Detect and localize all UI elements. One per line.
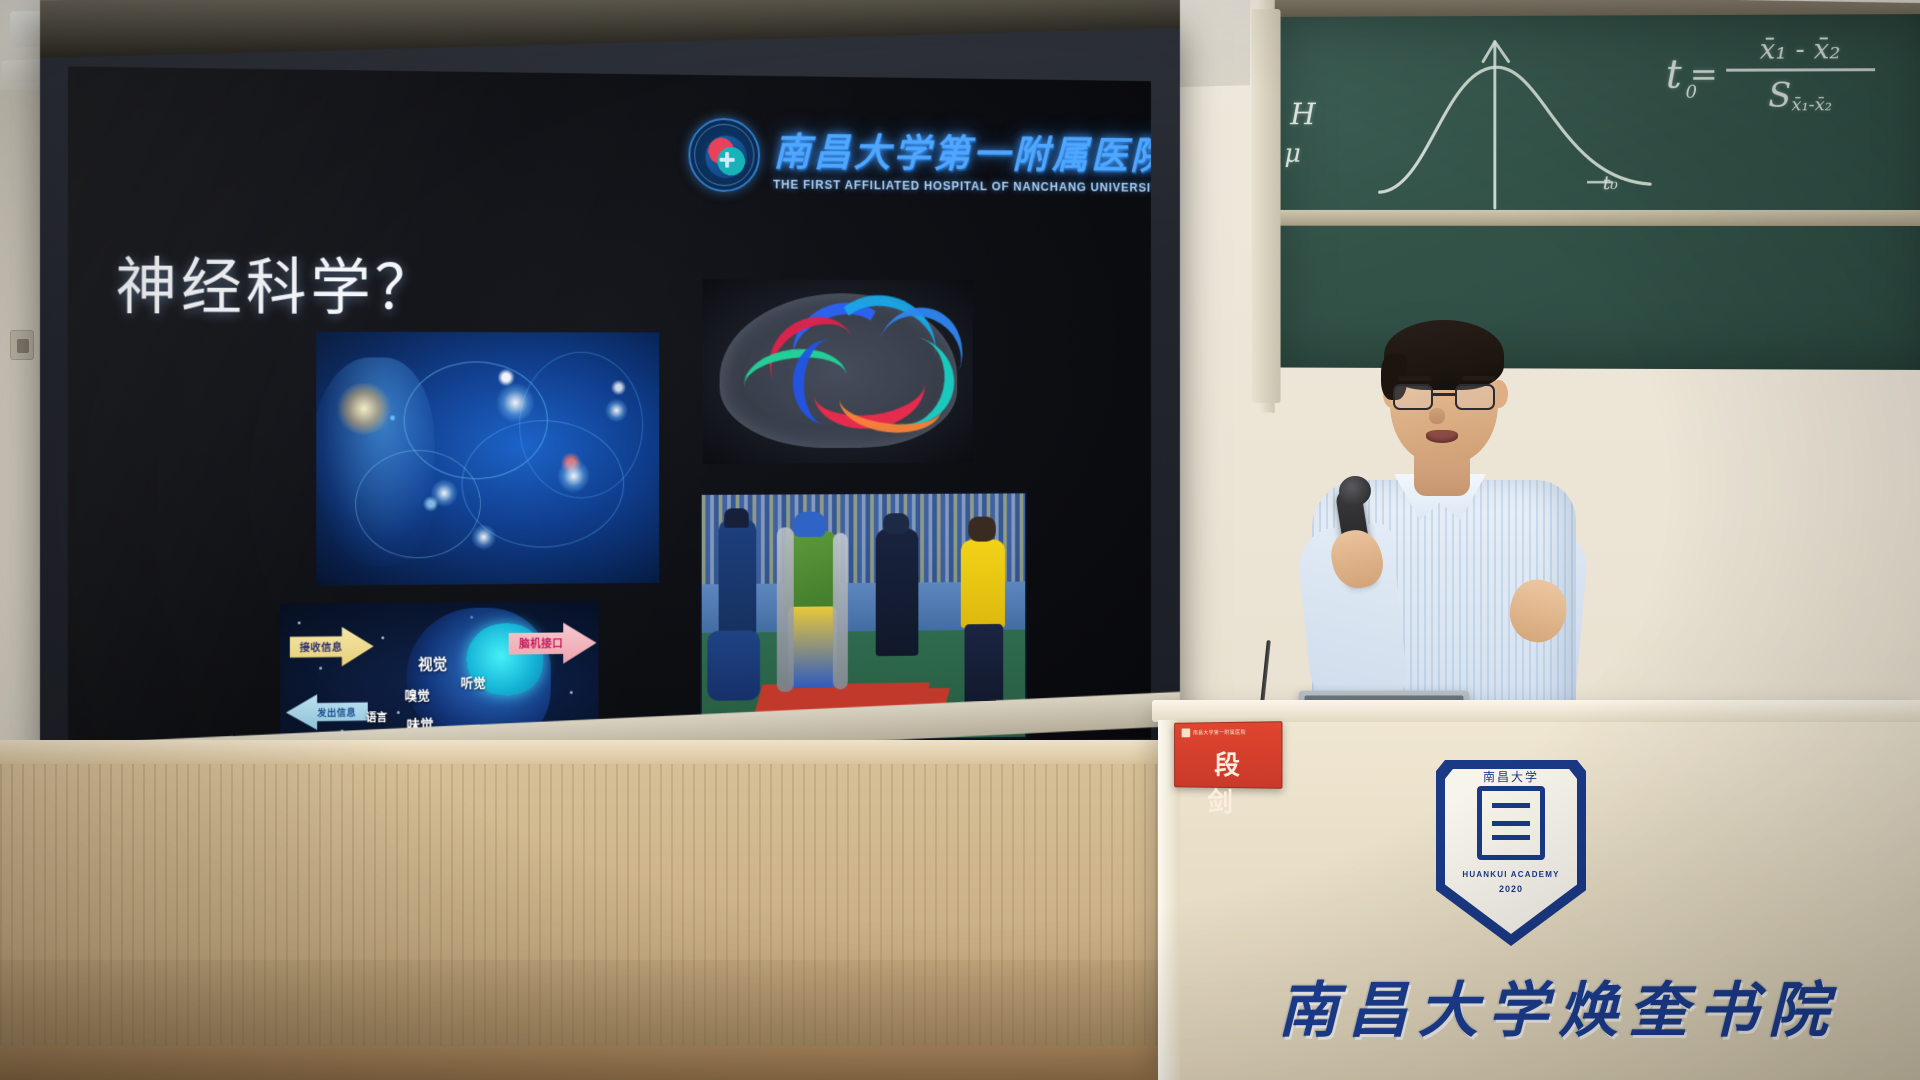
- speaker-eyebrow: [1398, 376, 1432, 381]
- chalk-formula-numerator: x̄₁ - x̄₂: [1752, 32, 1849, 65]
- chalk-curve-axis-label: t₀: [1603, 172, 1618, 194]
- nameplate-speaker-name: 段 剑: [1175, 745, 1281, 821]
- speaker-nameplate: 南昌大学第一附属医院 段 剑: [1174, 721, 1282, 789]
- chalkboard-slider-track[interactable]: [1252, 9, 1281, 403]
- slide-header: 南昌大学第一附属医院 THE FIRST AFFILIATED HOSPITAL…: [688, 118, 1151, 196]
- academy-crest: 南昌大学 HUANKUI ACADEMY 2020: [1436, 760, 1586, 946]
- sense-label-smell: 嗅觉: [405, 685, 430, 704]
- hospital-name-cn: 南昌大学第一附属医院: [773, 120, 1151, 180]
- lectern-top: [1152, 700, 1920, 722]
- medical-cross-icon: [720, 152, 735, 168]
- slide-title: 神经科学？: [116, 236, 439, 327]
- projection-board: 南昌大学第一附属医院 THE FIRST AFFILIATED HOSPITAL…: [40, 0, 1180, 775]
- floor: [0, 1046, 1175, 1080]
- sense-label-language: 语言: [366, 709, 387, 725]
- steward-yellow: [961, 540, 1005, 629]
- wood-paneling-cap: [0, 740, 1175, 764]
- assistant-person: [883, 513, 909, 534]
- arrow-send-info: 发出信息: [286, 694, 368, 731]
- assistant-person: [876, 529, 919, 657]
- sense-label-hearing: 听觉: [461, 673, 486, 692]
- chalkboard-middle-rail: [1275, 210, 1920, 226]
- presentation-slide: 南昌大学第一附属医院 THE FIRST AFFILIATED HOSPITAL…: [68, 66, 1151, 755]
- crest-university-name: 南昌大学: [1436, 768, 1586, 785]
- pilot-helmet: [794, 512, 826, 537]
- crest-glyph-icon: [1477, 786, 1545, 860]
- crest-academy-name-en: HUANKUI ACADEMY: [1436, 870, 1586, 879]
- chalk-formula-denominator-subscript: x̄₁-x̄₂: [1791, 94, 1832, 115]
- exoskeleton-frame: [833, 533, 848, 690]
- crest-year: 2020: [1436, 884, 1586, 894]
- steward-legs: [965, 624, 1004, 711]
- speaker-mouth: [1426, 430, 1458, 443]
- chalk-fraction-bar: [1726, 68, 1875, 71]
- chalk-formula-denominator: S: [1768, 75, 1791, 115]
- lecture-hall-scene: 南昌大学第一附属医院 THE FIRST AFFILIATED HOSPITAL…: [0, 0, 1920, 1080]
- chalk-note-h: H: [1290, 98, 1315, 133]
- staff-person: [724, 508, 748, 528]
- nameplate-org-text: 南昌大学第一附属医院: [1193, 729, 1246, 737]
- speaker-nose: [1429, 408, 1445, 424]
- sense-label-vision: 视觉: [418, 653, 447, 674]
- chalk-t-test-formula: t 0 = x̄₁ - x̄₂ S x̄₁-x̄₂: [1666, 32, 1875, 115]
- exoskeleton-frame: [777, 527, 794, 692]
- neuron-network-image: [316, 332, 659, 586]
- hospital-name-en: THE FIRST AFFILIATED HOSPITAL OF NANCHAN…: [773, 177, 1151, 194]
- speaker-eyebrow: [1462, 376, 1496, 381]
- board-top-rail: [40, 0, 1180, 58]
- crouching-staff: [707, 630, 760, 701]
- staff-person: [719, 520, 757, 635]
- nameplate-org-logo: 南昌大学第一附属医院: [1182, 728, 1246, 738]
- wall-socket[interactable]: [10, 330, 34, 360]
- chalk-note-mu: μ: [1284, 139, 1300, 169]
- exoskeleton-legs: [788, 606, 837, 688]
- dti-tractography-image: [703, 279, 973, 464]
- glasses-icon: [1393, 384, 1497, 410]
- chalk-formula-t: t: [1666, 51, 1682, 97]
- speaker-presenter: [1298, 318, 1588, 748]
- chalk-formula-equals: =: [1690, 54, 1718, 94]
- steward-yellow: [968, 517, 996, 542]
- arrow-receive-info: 接收信息: [290, 627, 374, 667]
- chalkboard-surface: t₀ H μ t 0 = x̄₁ - x̄₂ S x̄₁-x̄₂: [1275, 14, 1920, 370]
- hospital-logo-icon: [688, 118, 760, 193]
- academy-name-cn: 南昌大学焕奎书院: [1238, 962, 1878, 1049]
